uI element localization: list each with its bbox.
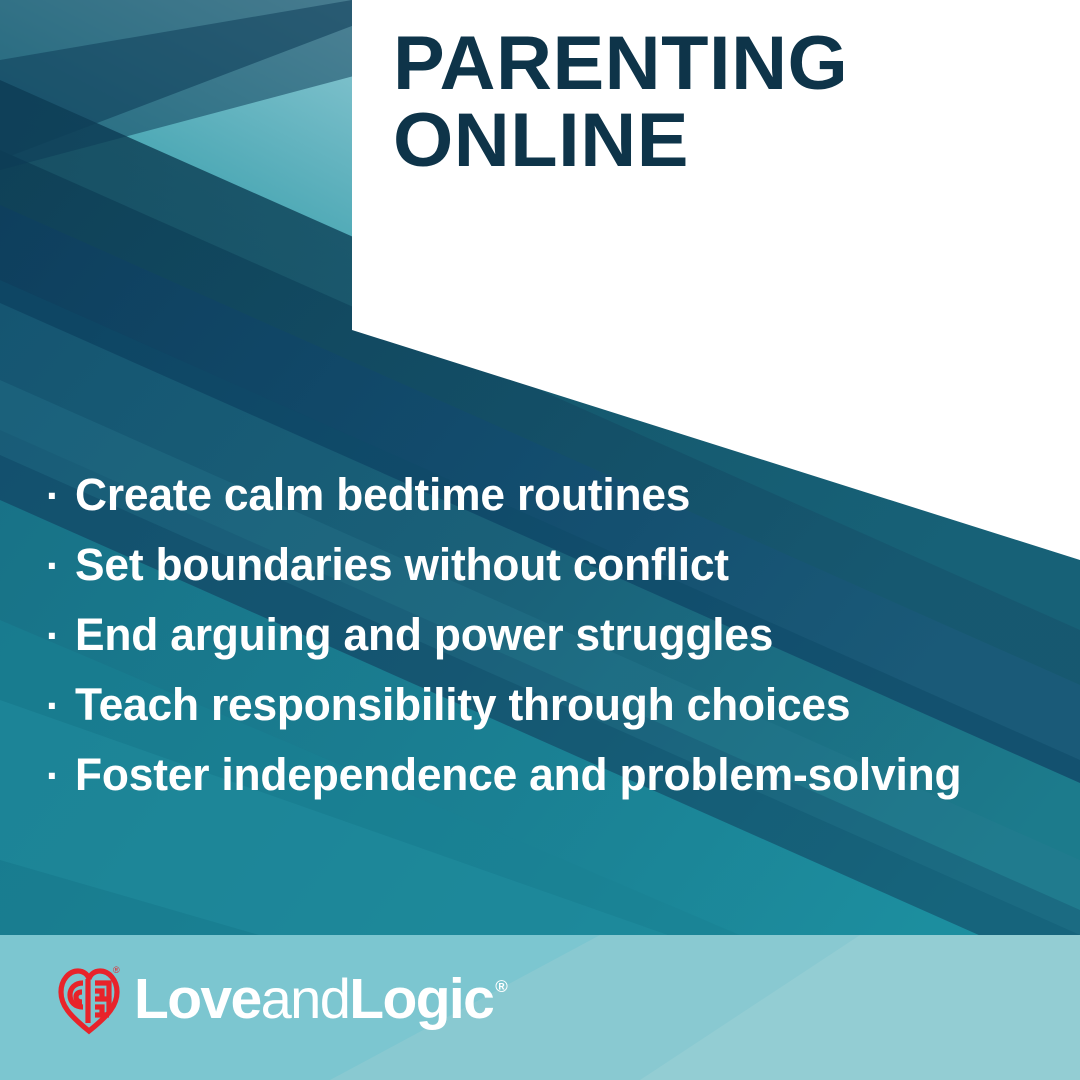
bullet-dot-icon: · — [46, 475, 75, 517]
list-item-label: End arguing and power struggles — [75, 612, 773, 657]
brand-wordmark: Love and Logic ® — [134, 971, 506, 1028]
wordmark-and: and — [261, 971, 350, 1027]
title-line-2: ONLINE — [393, 105, 1066, 176]
list-item: · Set boundaries without conflict — [46, 542, 1056, 587]
list-item: · Teach responsibility through choices — [46, 682, 1056, 727]
list-item-label: Teach responsibility through choices — [75, 682, 850, 727]
wordmark-logic: Logic — [349, 971, 493, 1028]
svg-text:®: ® — [113, 965, 120, 975]
registered-trademark-icon: ® — [495, 978, 508, 995]
title-line-1: PARENTING — [393, 28, 1066, 99]
page-title: PARENTING ONLINE — [393, 28, 1053, 177]
list-item-label: Create calm bedtime routines — [75, 472, 690, 517]
bullet-dot-icon: · — [46, 755, 75, 797]
bullet-dot-icon: · — [46, 615, 75, 657]
benefits-bullet-list: · Create calm bedtime routines · Set bou… — [46, 472, 1056, 797]
list-item: · Foster independence and problem-solvin… — [46, 752, 1056, 797]
bullet-dot-icon: · — [46, 685, 75, 727]
bullet-dot-icon: · — [46, 545, 75, 587]
brand-logo[interactable]: ® Love and Logic ® — [57, 963, 506, 1035]
footer-bar: ® Love and Logic ® — [0, 935, 1080, 1080]
wordmark-love: Love — [134, 971, 261, 1028]
list-item: · End arguing and power struggles — [46, 612, 1056, 657]
list-item-label: Set boundaries without conflict — [75, 542, 729, 587]
heart-maze-logo-icon: ® — [57, 963, 121, 1035]
poster-canvas: PARENTING ONLINE · Create calm bedtime r… — [0, 0, 1080, 1080]
list-item: · Create calm bedtime routines — [46, 472, 1056, 517]
list-item-label: Foster independence and problem-solving — [75, 752, 961, 797]
